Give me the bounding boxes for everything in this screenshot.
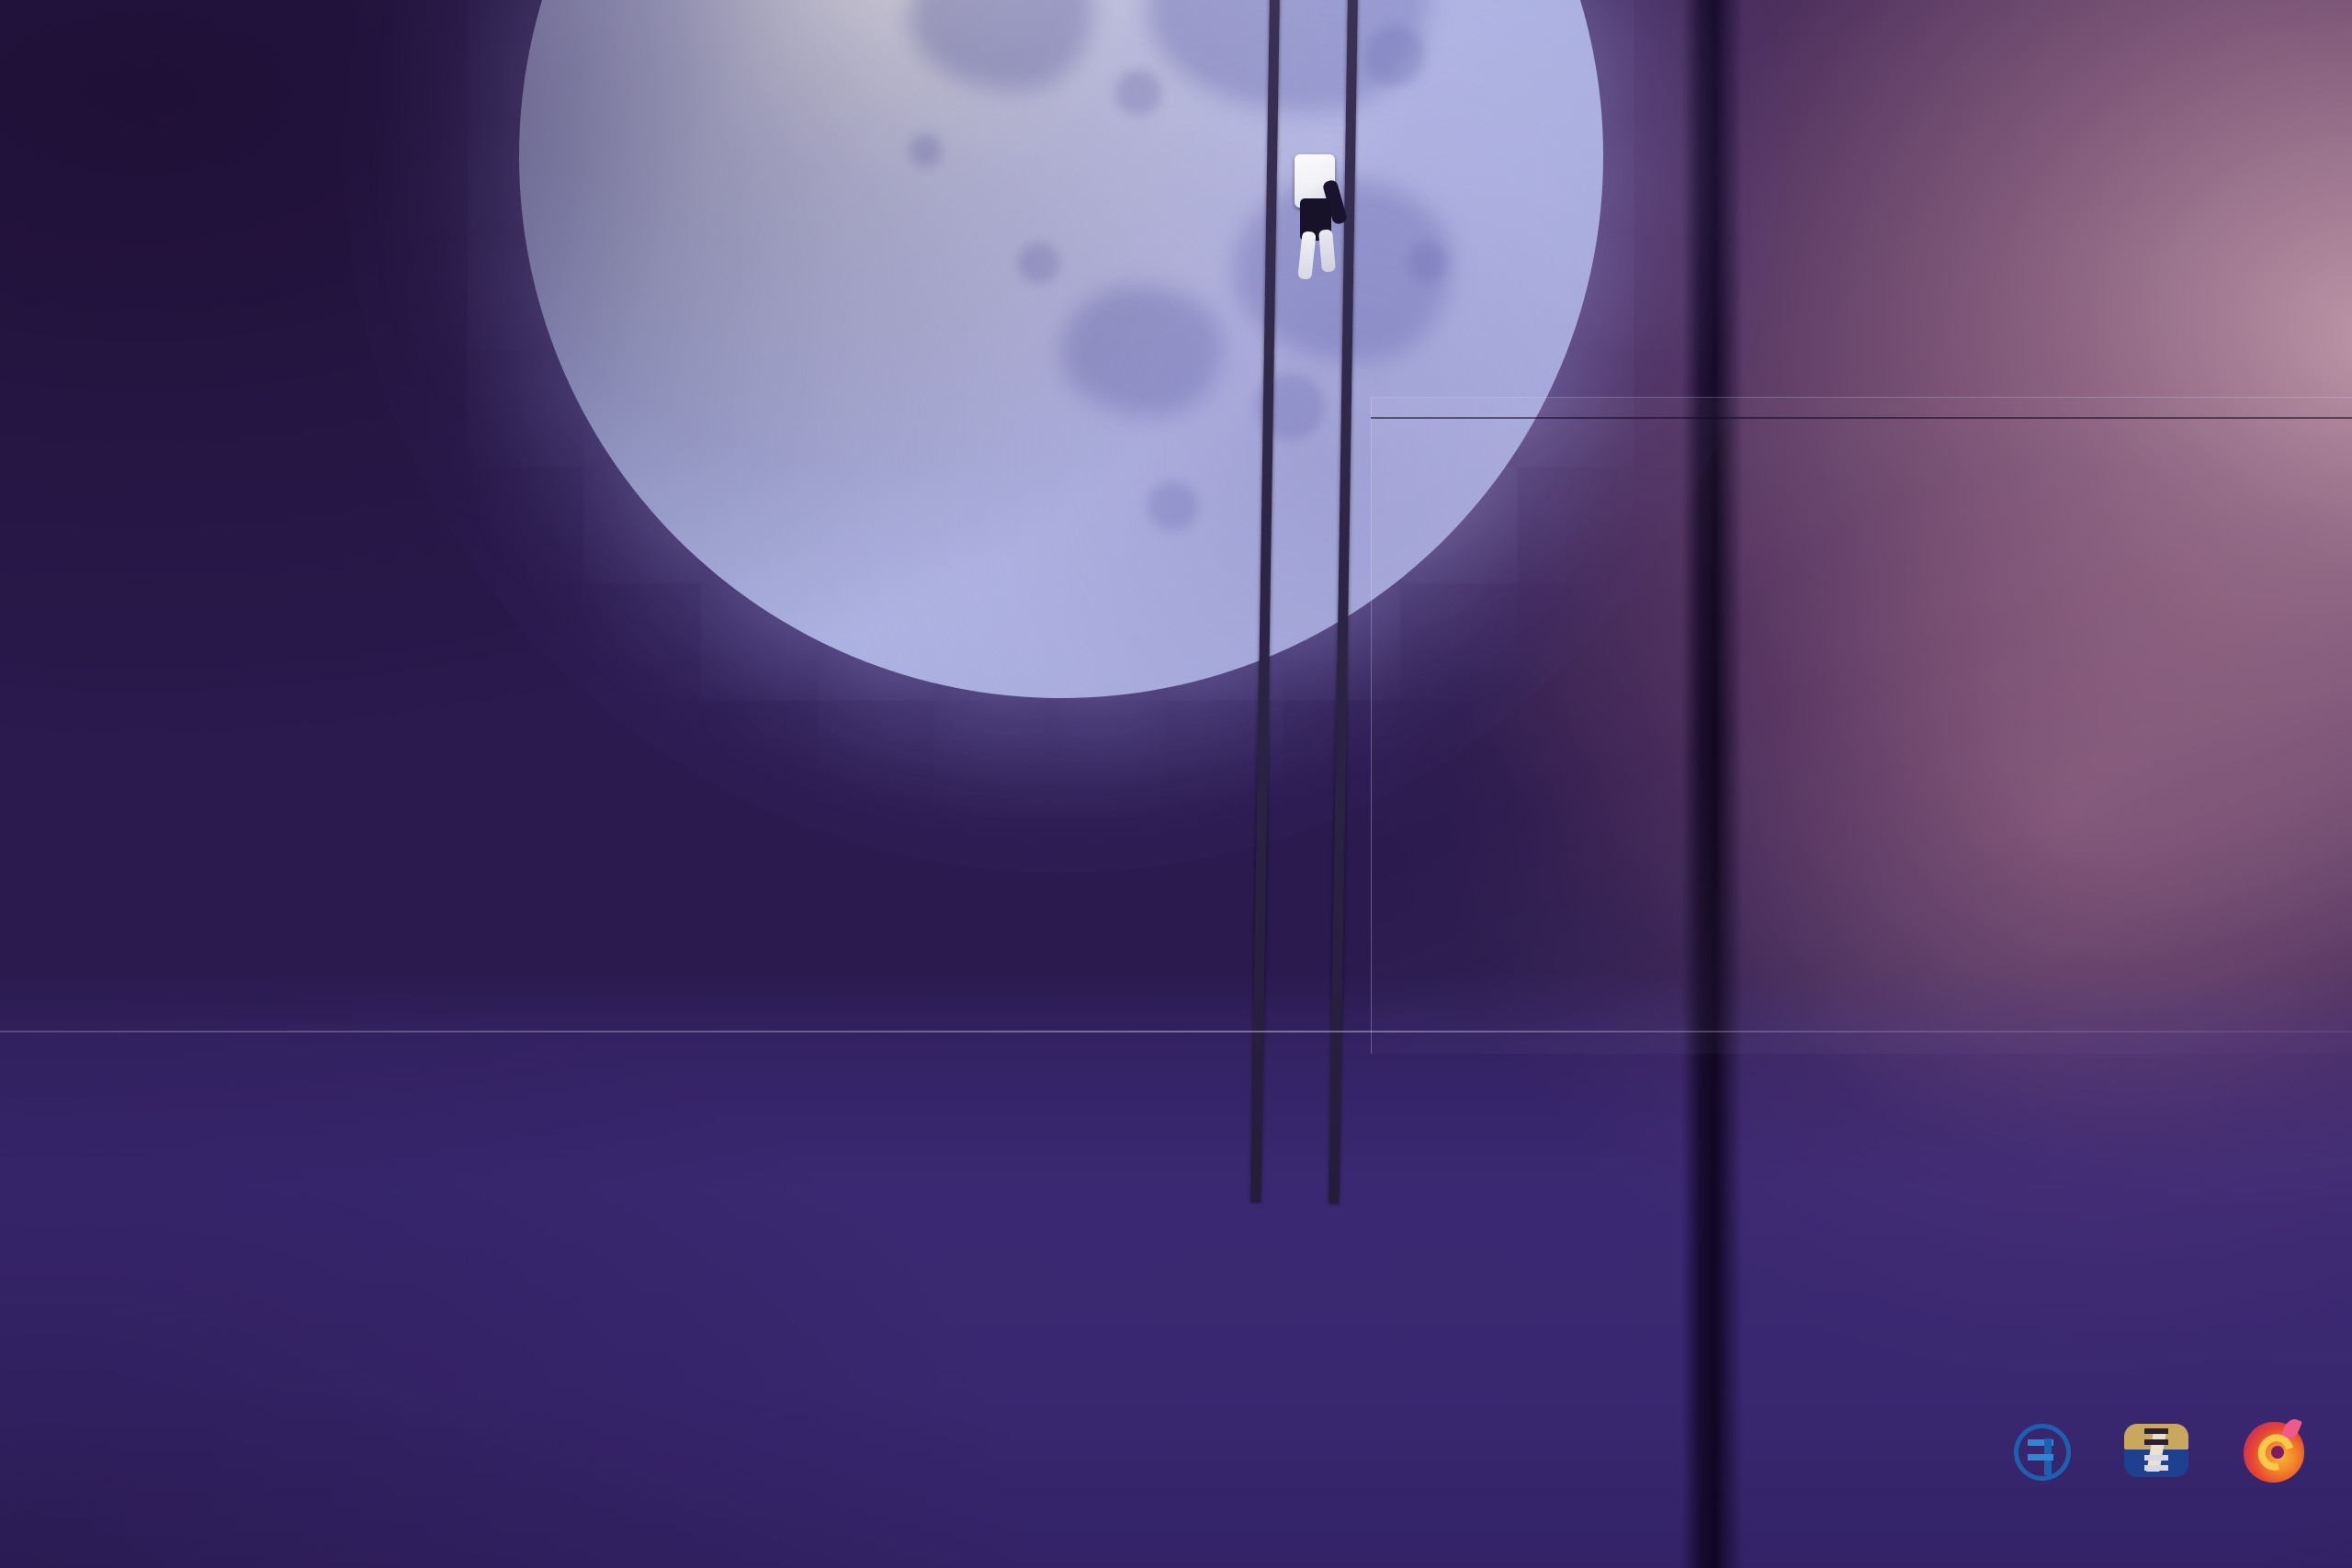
sponsor-logo-art-age-blockchain <box>2244 1422 2315 1483</box>
spiral-flame-icon <box>2244 1422 2304 1483</box>
poster-backdrop <box>0 0 2352 1568</box>
circle-b-icon <box>2014 1424 2071 1481</box>
vignette <box>0 0 2352 1568</box>
sponsor-logo-row <box>2014 1422 2315 1483</box>
sponsor-logo-asian-digital-culture-exchange <box>2124 1424 2199 1481</box>
shield-emblem-icon <box>2124 1424 2188 1481</box>
sponsor-logo-bgoex <box>2014 1424 2080 1481</box>
